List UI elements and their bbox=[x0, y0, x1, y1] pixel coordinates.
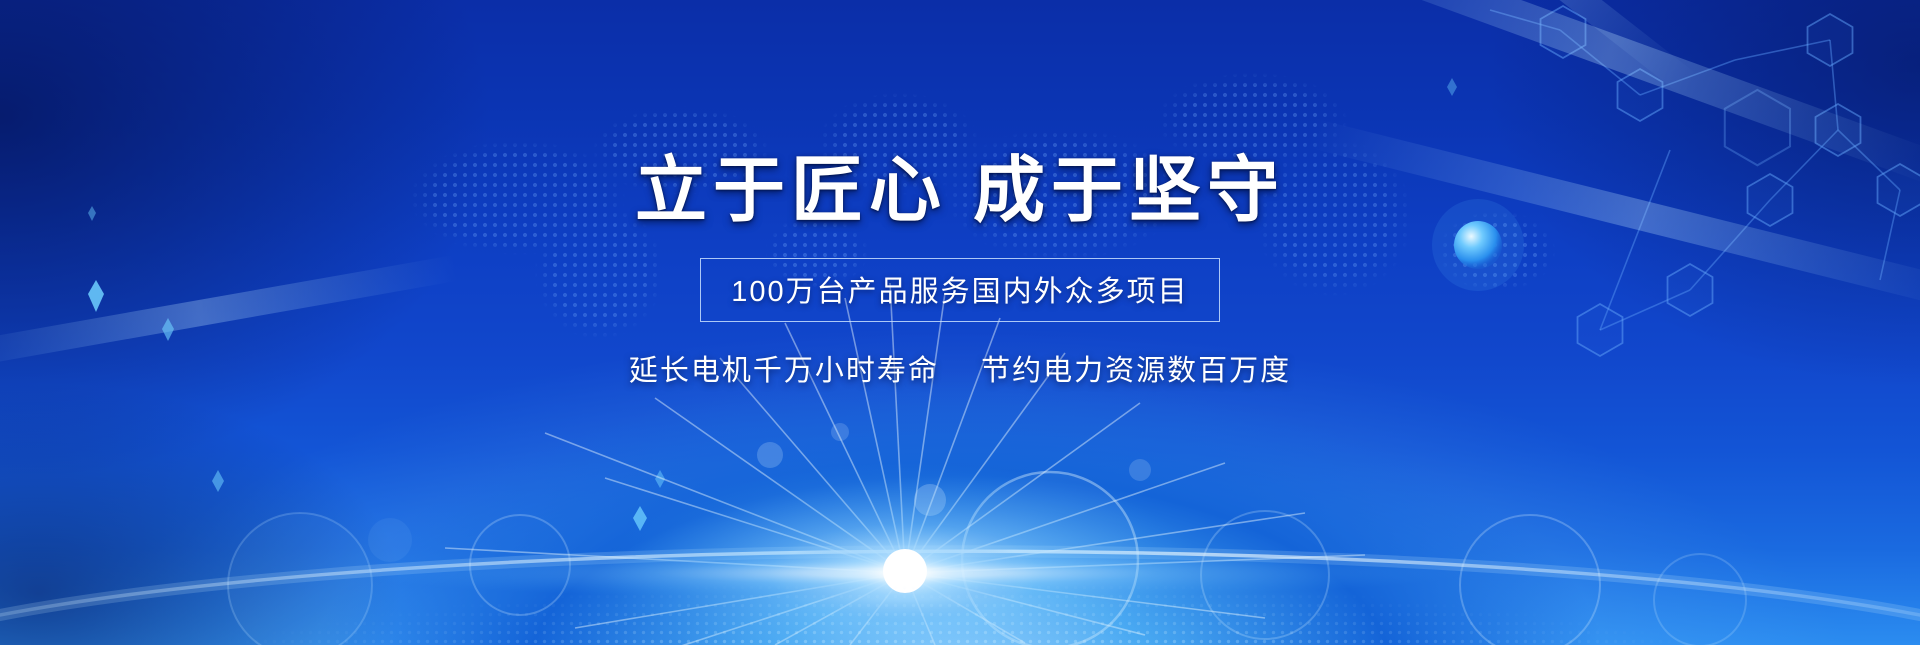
bokeh-circles bbox=[228, 423, 1746, 645]
hero-banner: 立于匠心 成于坚守 100万台产品服务国内外众多项目 延长电机千万小时寿命 节约… bbox=[0, 0, 1920, 645]
banner-badge: 100万台产品服务国内外众多项目 bbox=[700, 258, 1219, 322]
globe-surface-dots bbox=[0, 520, 1920, 645]
tagline-left: 延长电机千万小时寿命 bbox=[629, 355, 939, 387]
globe-horizon-arc bbox=[0, 551, 1920, 645]
banner-headline: 立于匠心 成于坚守 bbox=[0, 152, 1920, 231]
banner-tagline: 延长电机千万小时寿命 节约电力资源数百万度 bbox=[0, 347, 1920, 389]
tagline-right: 节约电力资源数百万度 bbox=[981, 355, 1291, 387]
banner-content: 立于匠心 成于坚守 100万台产品服务国内外众多项目 延长电机千万小时寿命 节约… bbox=[0, 0, 1920, 389]
sun-glow-core bbox=[345, 463, 1465, 645]
